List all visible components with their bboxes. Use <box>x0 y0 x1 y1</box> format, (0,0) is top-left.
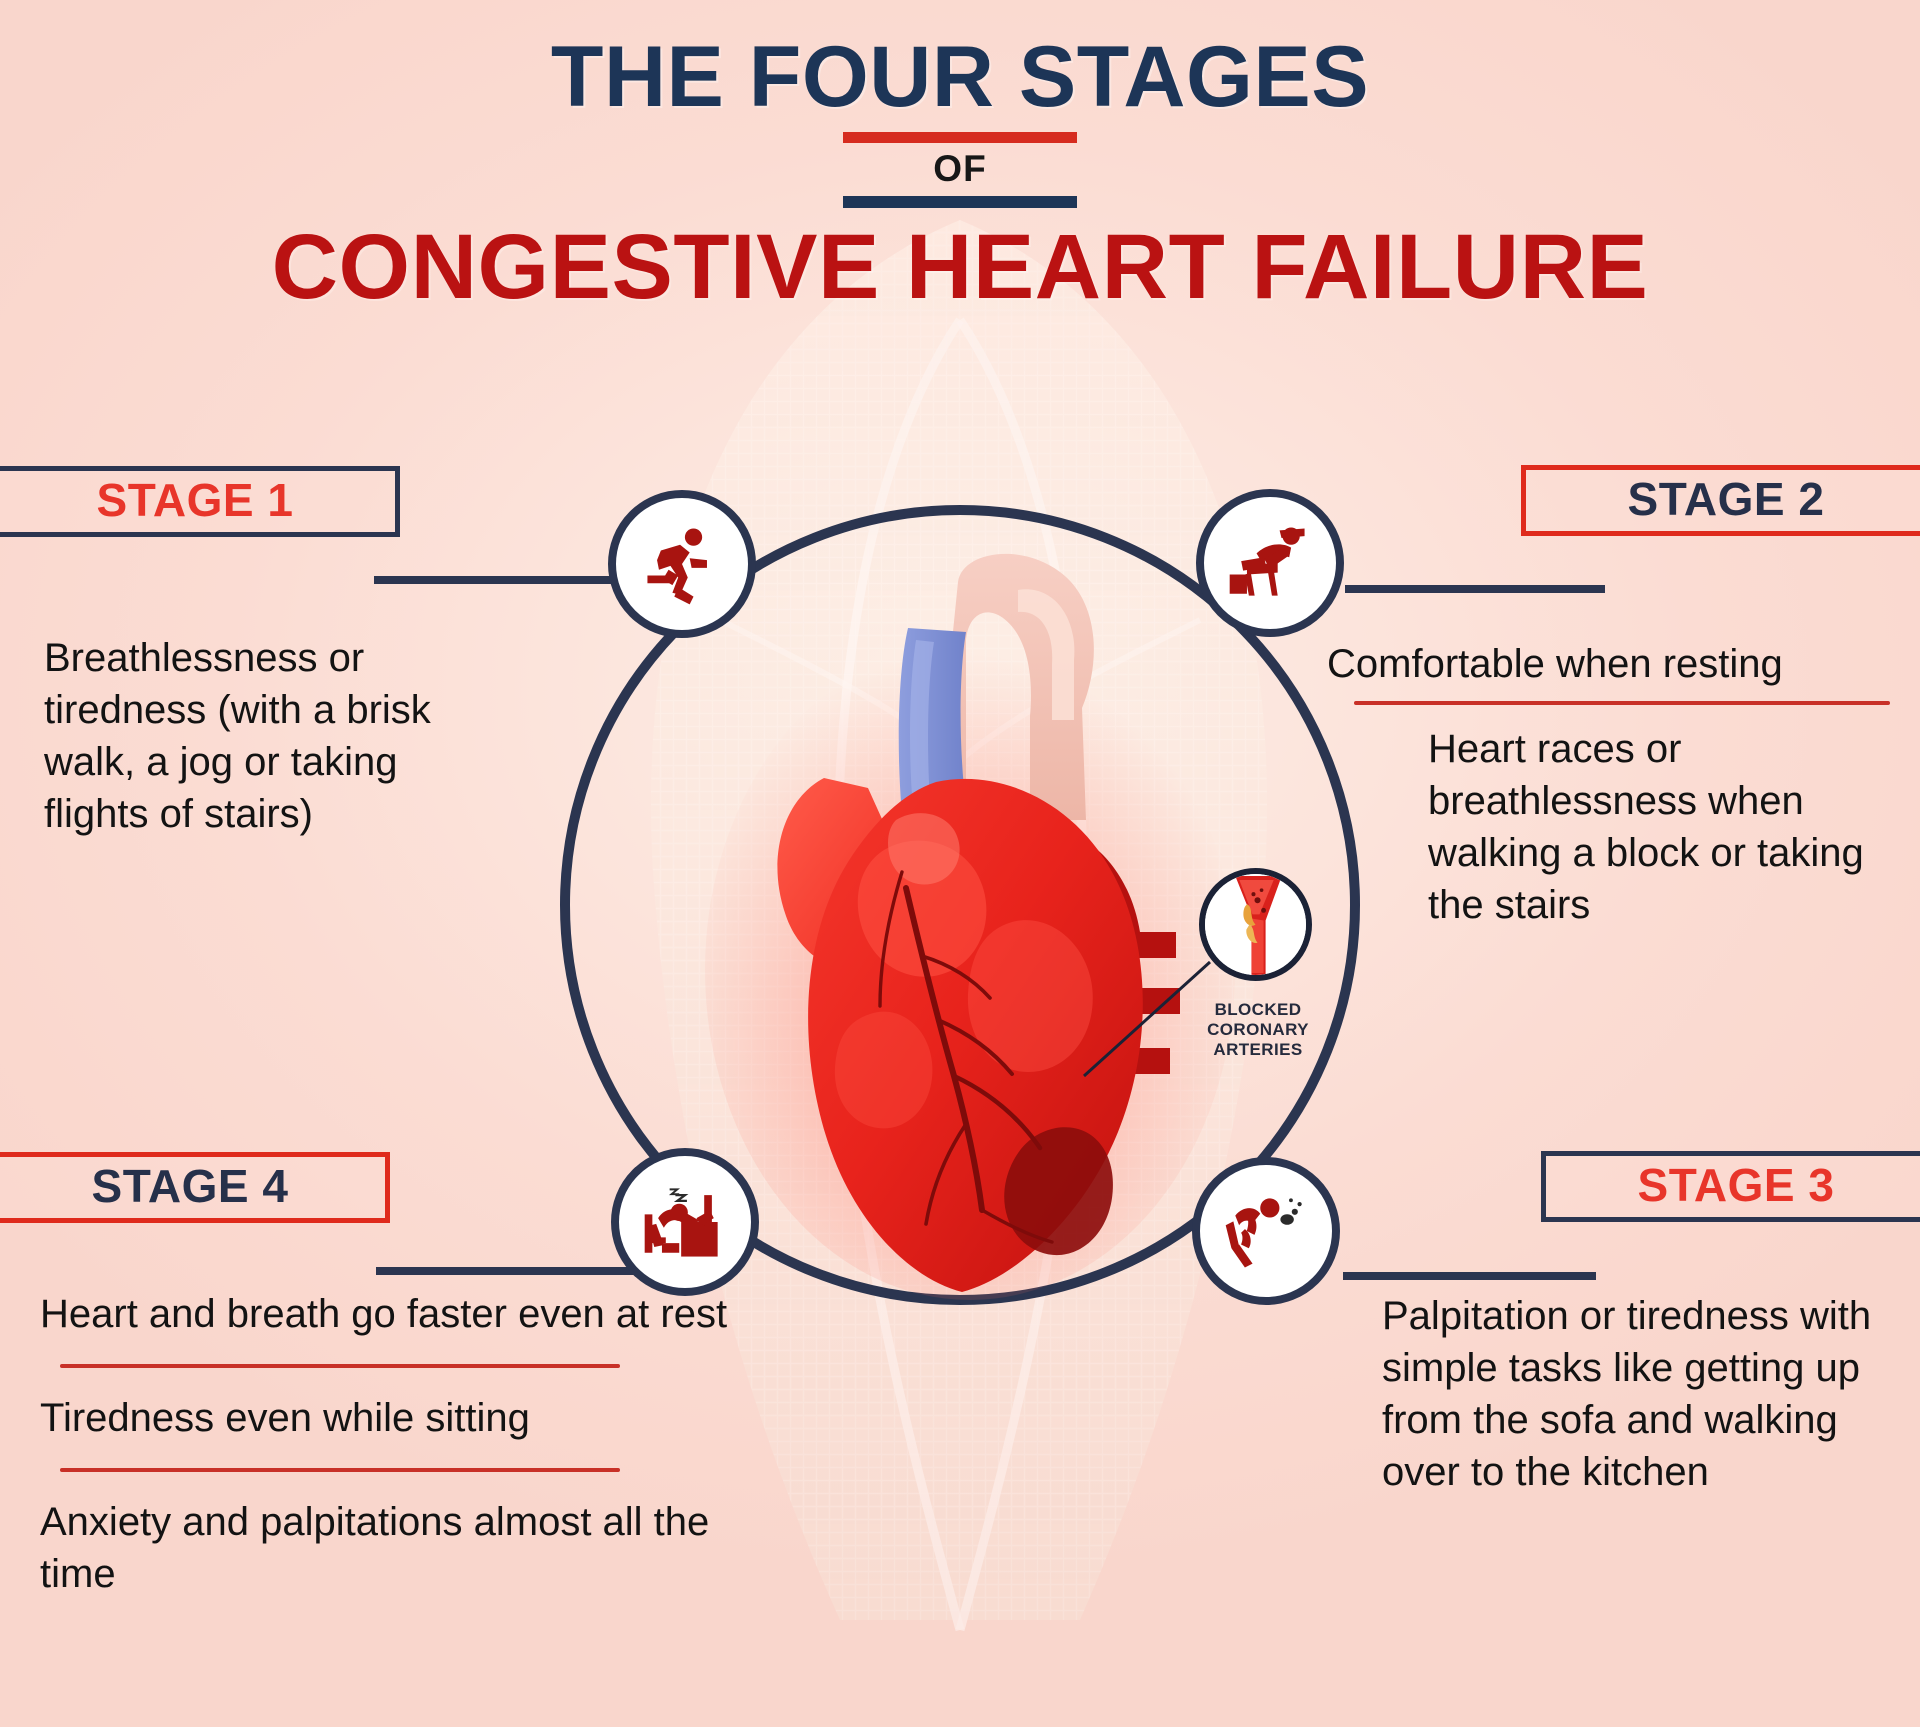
title-line-1: THE FOUR STAGES <box>0 34 1920 122</box>
stage-3-description: Palpitation or tiredness with simple tas… <box>1382 1290 1920 1498</box>
title-rule-red <box>843 132 1077 143</box>
title-rule-navy <box>843 196 1077 208</box>
stage-1-label-box[interactable]: STAGE 1 <box>0 466 400 537</box>
stage-2-description: Comfortable when resting Heart races or … <box>1332 638 1904 931</box>
stage-4-divider-1 <box>60 1364 620 1368</box>
title-connector-of: OF <box>0 150 1920 187</box>
person-slumped-at-desk-icon <box>637 1174 733 1270</box>
page-title: THE FOUR STAGES OF CONGESTIVE HEART FAIL… <box>0 34 1920 315</box>
blocked-artery-magnifier-icon <box>1199 868 1312 981</box>
stage-4-label-box[interactable]: STAGE 4 <box>0 1152 390 1223</box>
infographic-root: THE FOUR STAGES OF CONGESTIVE HEART FAIL… <box>0 0 1920 1727</box>
connector-stage-2 <box>1345 585 1605 593</box>
person-reclining-icon <box>1222 515 1318 611</box>
node-stage-4[interactable] <box>611 1148 759 1296</box>
stage-1-label: STAGE 1 <box>0 477 395 523</box>
stage-3-label: STAGE 3 <box>1546 1162 1920 1208</box>
stage-2-text-2: Heart races or breathlessness when walki… <box>1332 723 1904 931</box>
stage-1-description: Breathlessness or tiredness (with a bris… <box>44 632 476 840</box>
stage-1-text: Breathlessness or tiredness (with a bris… <box>44 632 476 840</box>
title-line-2: CONGESTIVE HEART FAILURE <box>0 221 1920 315</box>
stage-2-label-box[interactable]: STAGE 2 <box>1521 465 1920 536</box>
connector-stage-4 <box>376 1267 641 1275</box>
node-stage-2[interactable] <box>1196 489 1344 637</box>
stage-2-text-1: Comfortable when resting <box>1327 638 1904 690</box>
stage-4-text-1: Heart and breath go faster even at rest <box>40 1288 740 1340</box>
connector-stage-1 <box>374 576 636 584</box>
stage-3-text: Palpitation or tiredness with simple tas… <box>1382 1290 1920 1498</box>
stage-3-label-box[interactable]: STAGE 3 <box>1541 1151 1920 1222</box>
node-stage-3[interactable] <box>1192 1157 1340 1305</box>
stage-4-text-3: Anxiety and palpitations almost all the … <box>40 1496 740 1600</box>
stage-2-label: STAGE 2 <box>1526 476 1920 522</box>
connector-stage-3 <box>1343 1272 1596 1280</box>
stage-4-text-2: Tiredness even while sitting <box>40 1392 740 1444</box>
blocked-artery-label: BLOCKED CORONARY ARTERIES <box>1163 1000 1353 1060</box>
person-bending-exhausted-icon <box>1218 1183 1314 1279</box>
stage-2-divider <box>1354 701 1890 705</box>
node-stage-1[interactable] <box>608 490 756 638</box>
stage-4-label: STAGE 4 <box>0 1163 385 1209</box>
stage-4-divider-2 <box>60 1468 620 1472</box>
heart-illustration <box>700 520 1240 1310</box>
running-person-icon <box>634 516 730 612</box>
stage-4-description: Heart and breath go faster even at rest … <box>40 1288 740 1600</box>
